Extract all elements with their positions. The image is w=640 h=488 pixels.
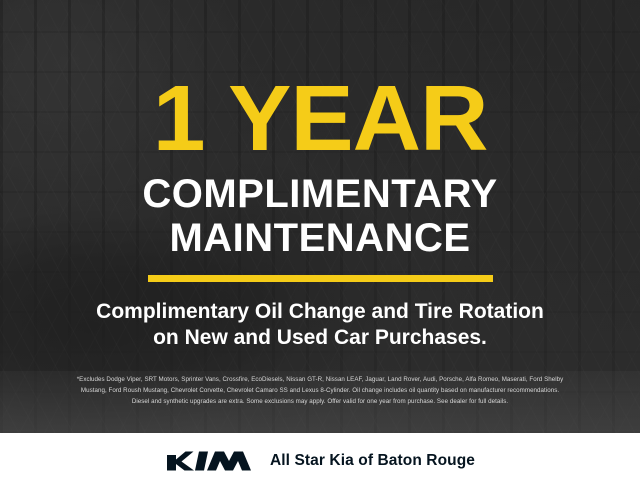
footer-lockup: All Star Kia of Baton Rouge — [0, 433, 640, 488]
dealer-name: All Star Kia of Baton Rouge — [270, 452, 475, 470]
offer-line-2: on New and Used Car Purchases. — [20, 325, 620, 352]
disclaimer-line-3: Diesel and synthetic upgrades are extra.… — [14, 396, 626, 407]
offer-line-1: Complimentary Oil Change and Tire Rotati… — [20, 299, 620, 326]
yellow-divider-rule — [148, 275, 493, 282]
headline-line-maintenance: MAINTENANCE — [169, 218, 470, 258]
promotional-banner: 1 YEAR COMPLIMENTARY MAINTENANCE Complim… — [0, 0, 640, 488]
headline-duration: 1 YEAR — [153, 76, 488, 162]
disclaimer-line-2: Mustang, Ford Roush Mustang, Chevrolet C… — [14, 385, 626, 396]
banner-content: 1 YEAR COMPLIMENTARY MAINTENANCE Complim… — [0, 0, 640, 488]
offer-description: Complimentary Oil Change and Tire Rotati… — [20, 299, 620, 353]
disclaimer-text: *Excludes Dodge Viper, SRT Motors, Sprin… — [14, 374, 626, 407]
headline-line-complimentary: COMPLIMENTARY — [142, 174, 497, 214]
disclaimer-line-1: *Excludes Dodge Viper, SRT Motors, Sprin… — [14, 374, 626, 385]
kia-logo — [165, 449, 253, 473]
